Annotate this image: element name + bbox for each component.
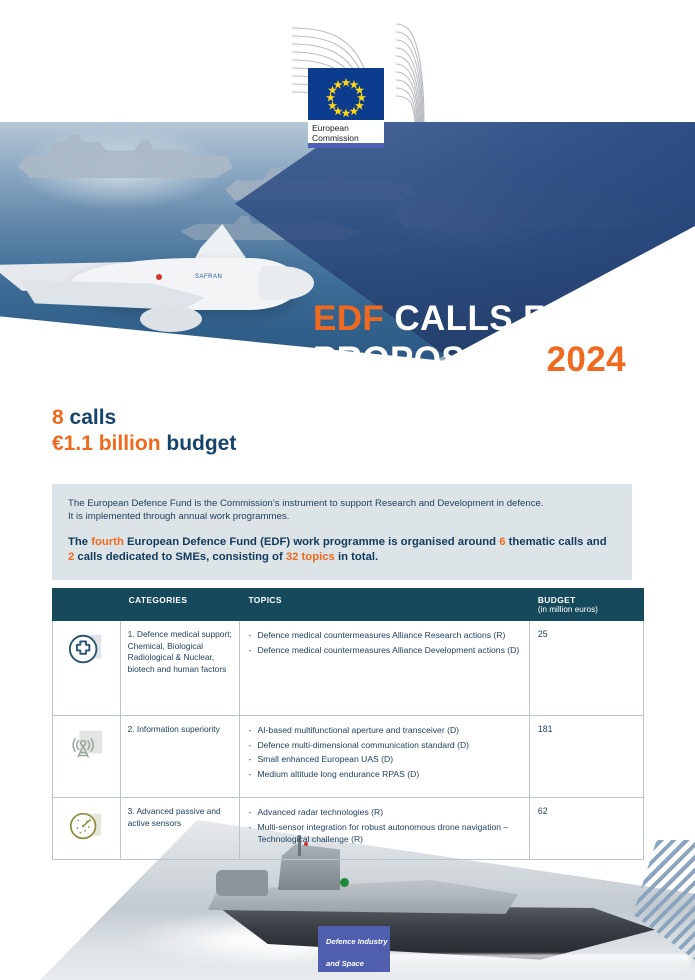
table-row: 2. Information superiority -AI-based mul…	[53, 716, 644, 798]
info-p2-fourth: fourth	[91, 536, 124, 548]
hero-title-line-2: PROPOSALS 2024	[313, 339, 626, 380]
badge-line-2: and Space	[318, 948, 390, 970]
info-p2-e: in total.	[335, 551, 378, 563]
vessel-wake	[370, 954, 690, 976]
defence-industry-space-badge: Defence Industry and Space	[318, 926, 390, 972]
bullet-dash-icon: -	[248, 768, 257, 781]
topic-item: -Advanced radar technologies (R)	[248, 806, 520, 819]
table-body: 1. Defence medical support; Chemical, Bi…	[53, 621, 644, 860]
kpi-budget-label: budget	[161, 432, 237, 455]
hero-title-proposals: PROPOSALS	[313, 340, 546, 379]
info-paragraph-1-line-1: The European Defence Fund is the Commiss…	[68, 497, 616, 510]
info-p2-a: The	[68, 536, 91, 548]
bullet-dash-icon: -	[248, 644, 257, 657]
info-paragraph-1: The European Defence Fund is the Commiss…	[68, 497, 616, 524]
hero-title-edf: EDF	[313, 299, 384, 338]
table-header-categories: CATEGORIES	[120, 589, 240, 621]
topic-item: -Defence medical countermeasures Allianc…	[248, 644, 520, 657]
european-commission-wordmark: European Commission	[308, 120, 384, 143]
european-commission-logo: European Commission	[308, 68, 384, 148]
hero-title-line-1: EDF CALLS FOR	[313, 298, 626, 339]
budget-cell: 25	[529, 621, 643, 716]
table-header-topics: TOPICS	[240, 589, 529, 621]
info-p2-topics: 32 topics	[286, 551, 335, 563]
table-header-row: CATEGORIES TOPICS BUDGET (in million eur…	[53, 589, 644, 621]
table-row: 3. Advanced passive and active sensors -…	[53, 798, 644, 860]
kpi-block: 8 calls €1.1 billion budget	[52, 405, 236, 457]
ec-line-2: Commission	[312, 133, 384, 143]
topics-cell: -Defence medical countermeasures Allianc…	[240, 621, 529, 716]
kpi-calls-number: 8	[52, 406, 64, 429]
table-header-icon-spacer	[53, 589, 121, 621]
medical-cross-icon	[67, 631, 105, 669]
topic-text: Advanced radar technologies (R)	[257, 806, 520, 819]
budget-cell: 181	[529, 716, 643, 798]
badge-line-1: Defence Industry	[318, 926, 390, 948]
table-header-budget: BUDGET (in million euros)	[529, 589, 643, 621]
hero-title-calls-for: CALLS FOR	[384, 299, 598, 338]
topic-text: Defence medical countermeasures Alliance…	[257, 644, 520, 657]
table-row: 1. Defence medical support; Chemical, Bi…	[53, 621, 644, 716]
kpi-calls-label: calls	[64, 406, 117, 429]
topic-item: -Defence multi-dimensional communication…	[248, 739, 520, 752]
eu-stars	[308, 68, 384, 120]
vessel-engine-module	[216, 870, 268, 896]
topic-text: Multi-sensor integration for robust auto…	[257, 821, 520, 846]
info-paragraph-1-line-2: It is implemented through annual work pr…	[68, 510, 616, 523]
topics-cell: -Advanced radar technologies (R) -Multi-…	[240, 798, 529, 860]
bullet-dash-icon: -	[248, 806, 257, 819]
kpi-calls: 8 calls	[52, 405, 236, 431]
category-icon-cell	[53, 798, 121, 860]
vessel-navigation-light	[340, 878, 349, 887]
radar-sweep-icon	[67, 808, 105, 846]
hero-banner: SAFRAN EDF CALLS FOR PROPOSALS 2024 DEVE…	[0, 118, 695, 386]
ec-underbar	[308, 143, 384, 148]
eu-flag	[308, 68, 384, 120]
table-header: CATEGORIES TOPICS BUDGET (in million eur…	[53, 589, 644, 621]
hero-title-year: 2024	[546, 340, 625, 379]
budget-cell: 62	[529, 798, 643, 860]
logo-band: European Commission	[0, 0, 695, 122]
kpi-budget-number: €1.1 billion	[52, 432, 161, 455]
topic-item: -Medium altitude long endurance RPAS (D)	[248, 768, 520, 781]
bullet-dash-icon: -	[248, 821, 257, 846]
info-box: The European Defence Fund is the Commiss…	[52, 484, 632, 580]
category-name-cell: 2. Information superiority	[120, 716, 240, 798]
category-icon-cell	[53, 621, 121, 716]
topic-text: Small enhanced European UAS (D)	[257, 753, 520, 766]
category-name-cell: 3. Advanced passive and active sensors	[120, 798, 240, 860]
antenna-tower-icon	[67, 726, 105, 764]
hero-title-block: EDF CALLS FOR PROPOSALS 2024 DEVELOPING …	[313, 298, 626, 386]
topic-item: -Defence medical countermeasures Allianc…	[248, 629, 520, 642]
topic-text: AI-based multifunctional aperture and tr…	[257, 724, 520, 737]
info-p2-b: European Defence Fund (EDF) work program…	[124, 536, 499, 548]
topic-text: Defence medical countermeasures Alliance…	[257, 629, 520, 642]
kpi-budget: €1.1 billion budget	[52, 431, 236, 457]
topic-text: Defence multi-dimensional communication …	[257, 739, 520, 752]
ec-line-1: European	[312, 123, 384, 133]
info-p2-d: calls dedicated to SMEs, consisting of	[74, 551, 286, 563]
topic-item: -Multi-sensor integration for robust aut…	[248, 821, 520, 846]
info-paragraph-2: The fourth European Defence Fund (EDF) w…	[68, 535, 616, 566]
topic-item: -Small enhanced European UAS (D)	[248, 753, 520, 766]
bullet-dash-icon: -	[248, 724, 257, 737]
topic-text: Medium altitude long endurance RPAS (D)	[257, 768, 520, 781]
bullet-dash-icon: -	[248, 739, 257, 752]
table-header-budget-label: BUDGET	[538, 595, 576, 605]
calls-table: CATEGORIES TOPICS BUDGET (in million eur…	[52, 588, 644, 860]
info-p2-c: thematic calls and	[506, 536, 607, 548]
category-name-cell: 1. Defence medical support; Chemical, Bi…	[120, 621, 240, 716]
topics-cell: -AI-based multifunctional aperture and t…	[240, 716, 529, 798]
category-icon-cell	[53, 716, 121, 798]
bullet-dash-icon: -	[248, 753, 257, 766]
bullet-dash-icon: -	[248, 629, 257, 642]
table-header-budget-sub: (in million euros)	[538, 605, 635, 614]
warship-silhouette	[18, 132, 233, 178]
topic-item: -AI-based multifunctional aperture and t…	[248, 724, 520, 737]
